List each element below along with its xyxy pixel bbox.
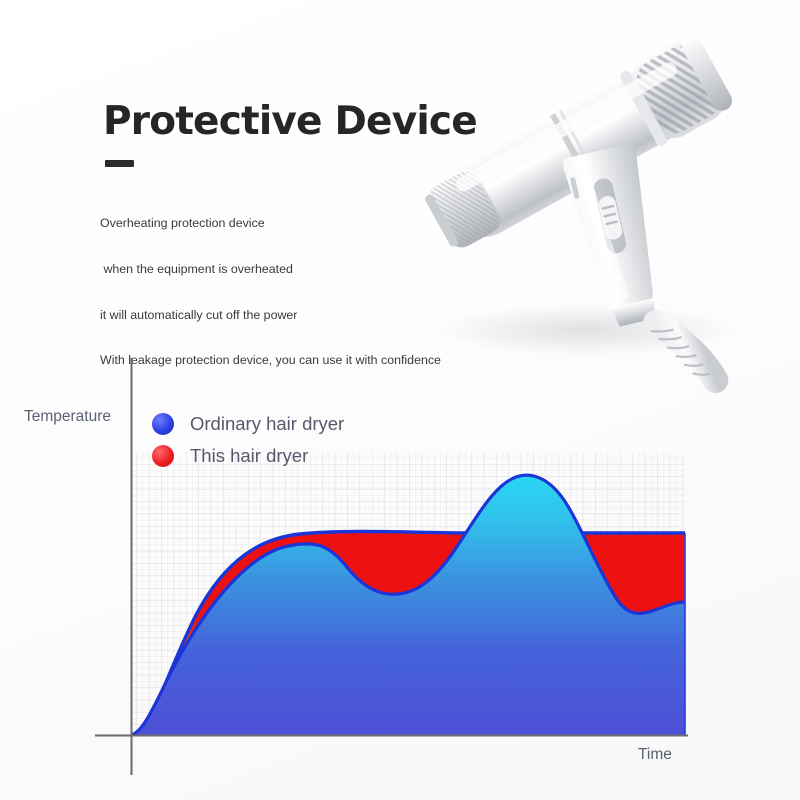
page-canvas: Protective Device Overheating protection… [0,0,800,800]
dryer-barrel-group [417,31,737,260]
legend-label-this-hair-dryer: This hair dryer [190,445,308,467]
legend-dot-red-icon [152,445,174,467]
chart-x-axis-label: Time [638,746,672,764]
legend-label-ordinary-hair-dryer: Ordinary hair dryer [190,413,344,435]
temperature-time-chart [0,340,800,800]
legend-item-ordinary-hair-dryer[interactable]: Ordinary hair dryer [152,408,344,440]
chart-legend: Ordinary hair dryer This hair dryer [152,408,344,472]
title-underline-dash [105,160,134,167]
legend-item-this-hair-dryer[interactable]: This hair dryer [152,440,344,472]
chart-y-axis-label: Temperature [24,408,111,426]
dryer-handle-group [561,143,673,331]
legend-dot-blue-icon [152,413,174,435]
